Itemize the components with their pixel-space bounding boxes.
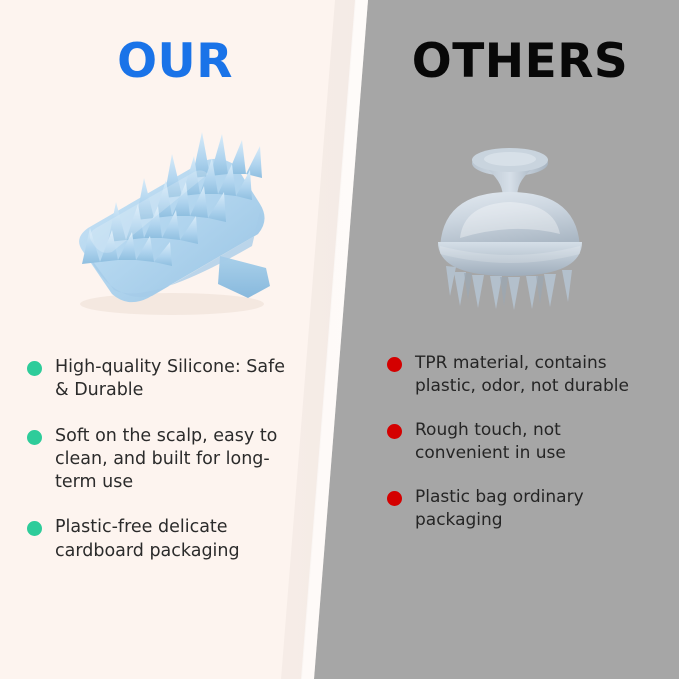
list-item: Plastic bag ordinary packaging [387, 486, 637, 531]
bullet-text: High-quality Silicone: Safe & Durable [55, 356, 302, 403]
list-item: High-quality Silicone: Safe & Durable [27, 356, 302, 403]
cross-dot-icon [387, 357, 402, 372]
bullet-text: Soft on the scalp, easy to clean, and bu… [55, 425, 302, 495]
cross-dot-icon [387, 424, 402, 439]
comparison-infographic: OUR OTHERS [0, 0, 679, 679]
others-heading: OTHERS [370, 38, 670, 85]
others-product-image [420, 130, 600, 310]
our-product-image [52, 118, 288, 318]
list-item: Plastic-free delicate cardboard packagin… [27, 516, 302, 563]
bullet-text: Plastic bag ordinary packaging [415, 486, 637, 531]
check-dot-icon [27, 521, 42, 536]
check-dot-icon [27, 430, 42, 445]
others-bullet-list: TPR material, contains plastic, odor, no… [387, 352, 637, 554]
cross-dot-icon [387, 491, 402, 506]
bullet-text: TPR material, contains plastic, odor, no… [415, 352, 637, 397]
bullet-text: Rough touch, not convenient in use [415, 419, 637, 464]
list-item: Rough touch, not convenient in use [387, 419, 637, 464]
list-item: Soft on the scalp, easy to clean, and bu… [27, 425, 302, 495]
list-item: TPR material, contains plastic, odor, no… [387, 352, 637, 397]
bullet-text: Plastic-free delicate cardboard packagin… [55, 516, 302, 563]
check-dot-icon [27, 361, 42, 376]
our-heading: OUR [0, 38, 350, 85]
our-bullet-list: High-quality Silicone: Safe & Durable So… [27, 356, 302, 585]
